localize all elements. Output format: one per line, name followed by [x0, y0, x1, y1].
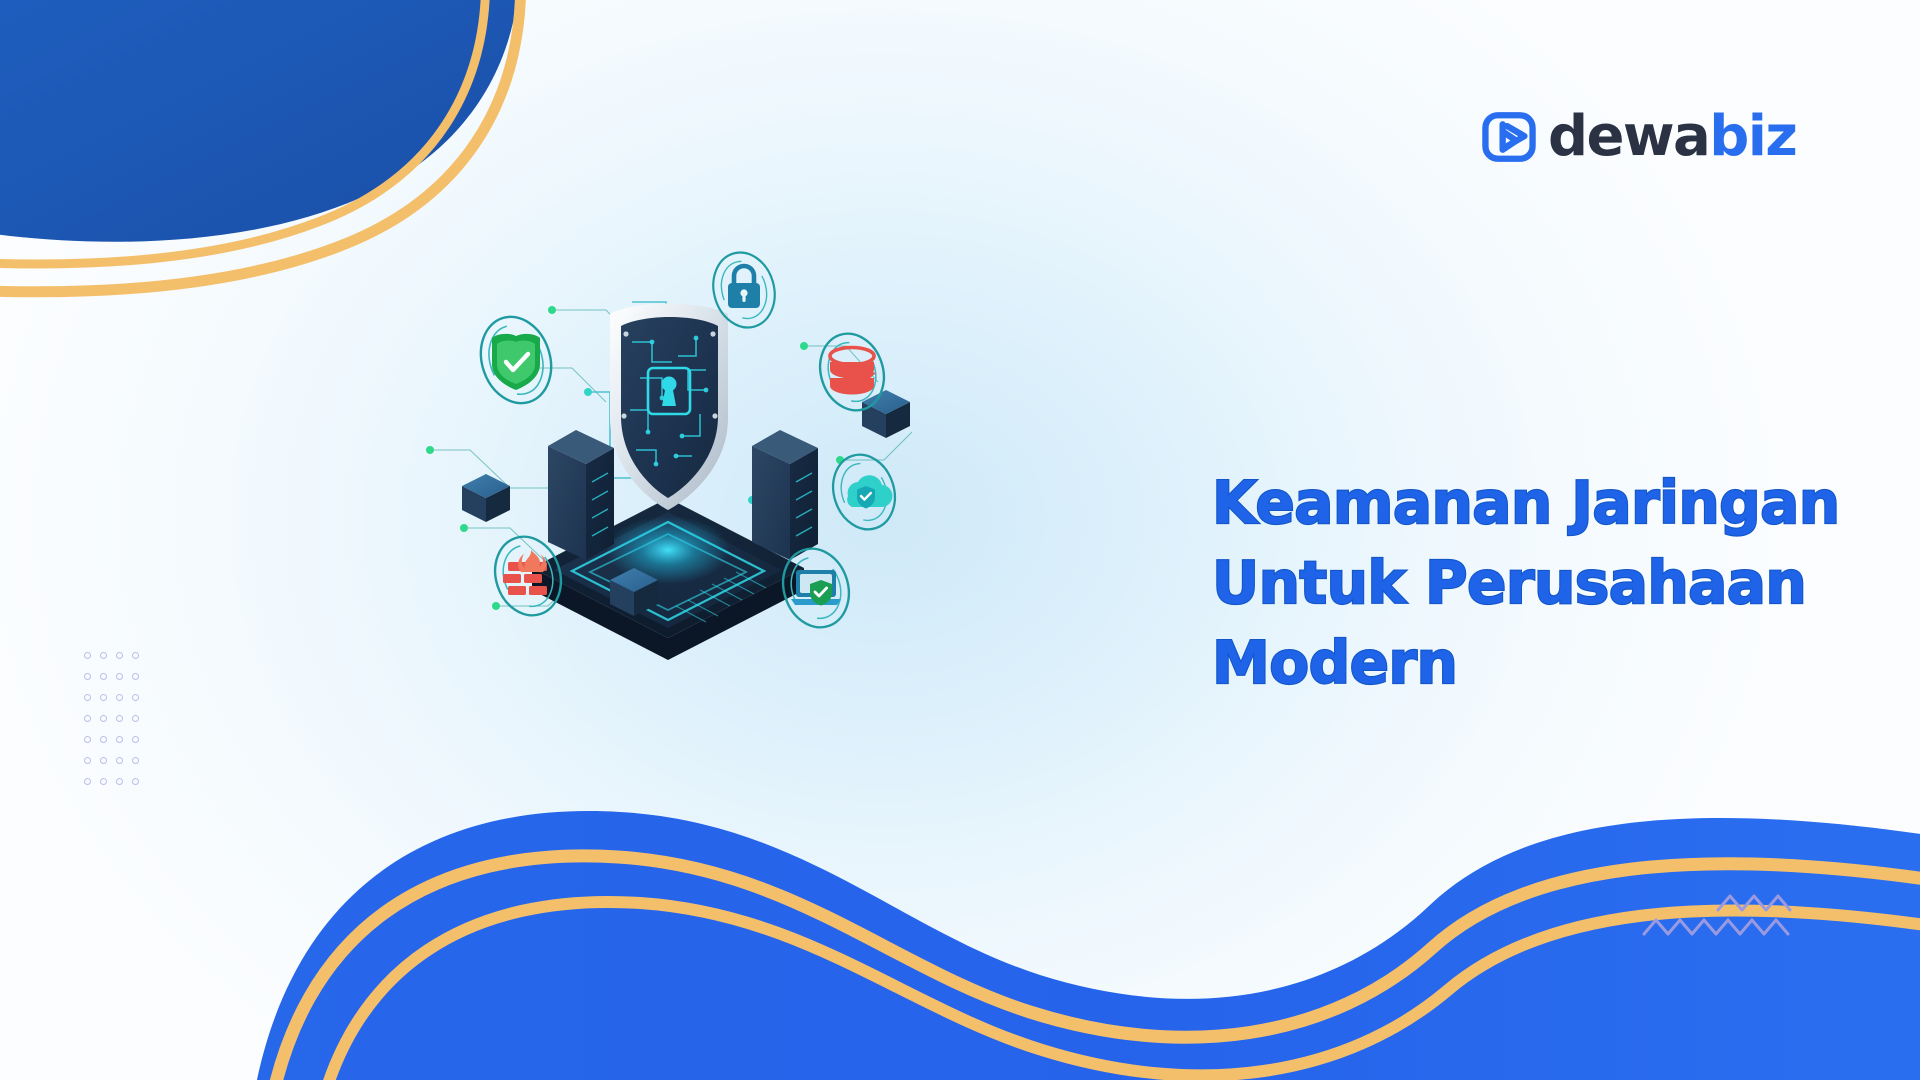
dot	[116, 757, 123, 764]
server-rack-right	[752, 430, 818, 560]
zigzag-line-top	[1718, 896, 1790, 910]
decorative-dot-grid	[84, 652, 148, 799]
dot	[100, 757, 107, 764]
dot	[84, 715, 91, 722]
hexagon-b-icon	[1480, 108, 1538, 166]
dot	[132, 694, 139, 701]
dot	[100, 778, 107, 785]
server-rack-left	[548, 430, 614, 560]
dot	[132, 673, 139, 680]
padlock-icon	[728, 266, 760, 308]
headline-line-1: Keamanan Jaringan	[1212, 463, 1902, 543]
circuit-shield-icon	[610, 304, 728, 511]
dot	[132, 652, 139, 659]
dot	[132, 715, 139, 722]
dot	[100, 673, 107, 680]
dot	[100, 736, 107, 743]
brand-logo[interactable]: dewabiz	[1480, 108, 1796, 166]
dot	[116, 652, 123, 659]
brand-wordmark: dewabiz	[1548, 109, 1796, 165]
dot	[100, 652, 107, 659]
top-left-blue-blob	[0, 0, 520, 242]
dot	[84, 736, 91, 743]
brand-name-dark: dewa	[1548, 104, 1709, 169]
dot	[100, 715, 107, 722]
dot	[116, 694, 123, 701]
dot	[84, 757, 91, 764]
dot	[84, 673, 91, 680]
badge-shield-check	[470, 308, 562, 413]
decorative-zigzag	[1630, 880, 1810, 955]
brand-name-accent: biz	[1709, 104, 1796, 169]
dot	[132, 778, 139, 785]
dot	[100, 694, 107, 701]
dot	[84, 778, 91, 785]
hero-banner: dewabiz Keamanan Jaringan Untuk Perusaha…	[0, 0, 1920, 1080]
dot	[84, 652, 91, 659]
shield-check-icon	[492, 334, 540, 390]
iso-cube-right	[862, 390, 910, 438]
dot	[116, 736, 123, 743]
page-title: Keamanan Jaringan Untuk Perusahaan Moder…	[1212, 463, 1912, 703]
zigzag-line-bottom	[1644, 920, 1788, 934]
network-security-illustration	[400, 250, 960, 670]
dot	[116, 673, 123, 680]
dot	[84, 694, 91, 701]
dot	[132, 757, 139, 764]
headline-line-3: Modern	[1212, 623, 1902, 703]
laptop-shield-icon	[791, 570, 841, 606]
dot	[116, 715, 123, 722]
dot	[132, 736, 139, 743]
headline-line-2: Untuk Perusahaan	[1212, 543, 1902, 623]
cloud-security-icon	[847, 475, 892, 508]
dot	[116, 778, 123, 785]
